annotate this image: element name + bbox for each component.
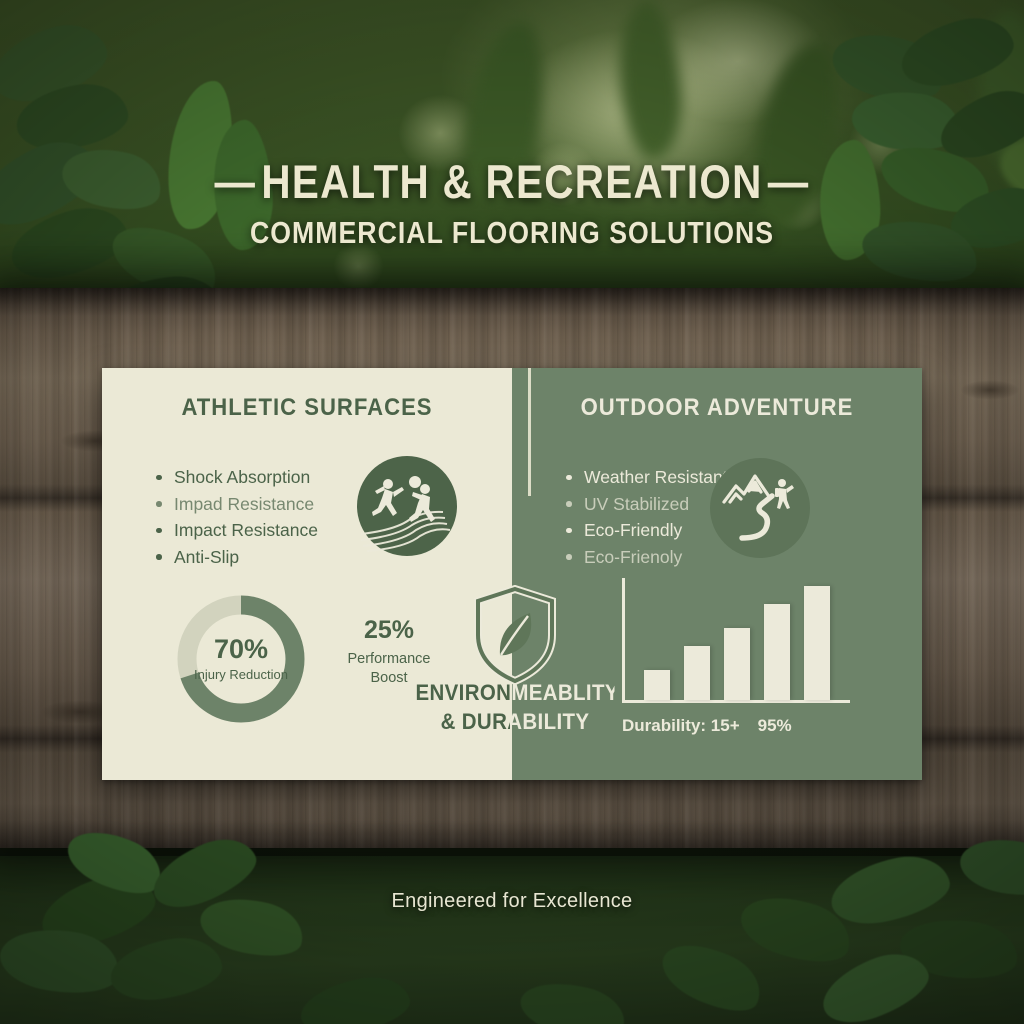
list-item: Impad Resistance (154, 491, 318, 518)
stat-performance-boost: 25% Performance Boost (334, 618, 444, 688)
wood-top-shadow (0, 288, 1024, 316)
mountain-hiker-icon (710, 458, 810, 558)
bar-chart-x-axis (622, 700, 850, 703)
bar-chart-y-axis (622, 578, 625, 700)
footer-tagline: Engineered for Excellence (392, 890, 633, 912)
panel-left-bullet-list: Shock Absorption Impad Resistance Impact… (154, 464, 318, 570)
panel-right-title: OUTDOOR ADVENTURE (528, 394, 905, 422)
bar-chart-caption-value: 95% (758, 716, 792, 735)
bar-item (804, 586, 830, 700)
wood-bottom-shadow (0, 820, 1024, 856)
list-item: Impact Resistance (154, 517, 318, 544)
list-item: Weather Resistant (564, 464, 728, 491)
list-item: Eco-Frienoly (564, 544, 728, 571)
wood-knot (960, 380, 1020, 400)
poster-header: —HEALTH & RECREATION— COMMERCIAL FLOORIN… (0, 158, 1024, 251)
list-item: Shock Absorption (154, 464, 318, 491)
list-item: Eco-Friendly (564, 517, 728, 544)
bar-chart-durability (622, 578, 852, 703)
poster-footer: Engineered for Excellence (0, 890, 1024, 913)
title-dash-left: — (209, 158, 261, 206)
bar-chart-caption-label: Durability: 15+ (622, 716, 740, 735)
title-text: HEALTH & RECREATION (261, 155, 762, 208)
bar-chart-caption: Durability: 15+95% (622, 716, 872, 736)
bar-item (764, 604, 790, 700)
panel-right-bullet-list: Weather Resistant UV Stabilized Eco-Frie… (564, 464, 728, 570)
runners-on-track-icon (357, 456, 457, 556)
page-title: —HEALTH & RECREATION— (72, 158, 953, 206)
shield-leaf-icon (470, 585, 560, 685)
bar-item (644, 670, 670, 700)
stat-value: 25% (334, 618, 444, 643)
panel-left-title: ATHLETIC SURFACES (118, 394, 495, 422)
page-subtitle: COMMERCIAL FLOORING SOLUTIONS (72, 215, 953, 251)
stat-label-line1: Performance (347, 651, 430, 667)
panel-divider-rule (528, 368, 531, 496)
bar-item (684, 646, 710, 700)
donut-chart-injury-reduction: 70% Injury Reduction (174, 592, 308, 726)
stat-label-line2: Boost (370, 670, 407, 686)
bar-item (724, 628, 750, 700)
poster-canvas: —HEALTH & RECREATION— COMMERCIAL FLOORIN… (0, 0, 1024, 1024)
title-dash-right: — (763, 158, 815, 206)
list-item: UV Stabilized (564, 491, 728, 518)
donut-chart-svg (174, 592, 308, 726)
list-item: Anti-Slip (154, 544, 318, 571)
